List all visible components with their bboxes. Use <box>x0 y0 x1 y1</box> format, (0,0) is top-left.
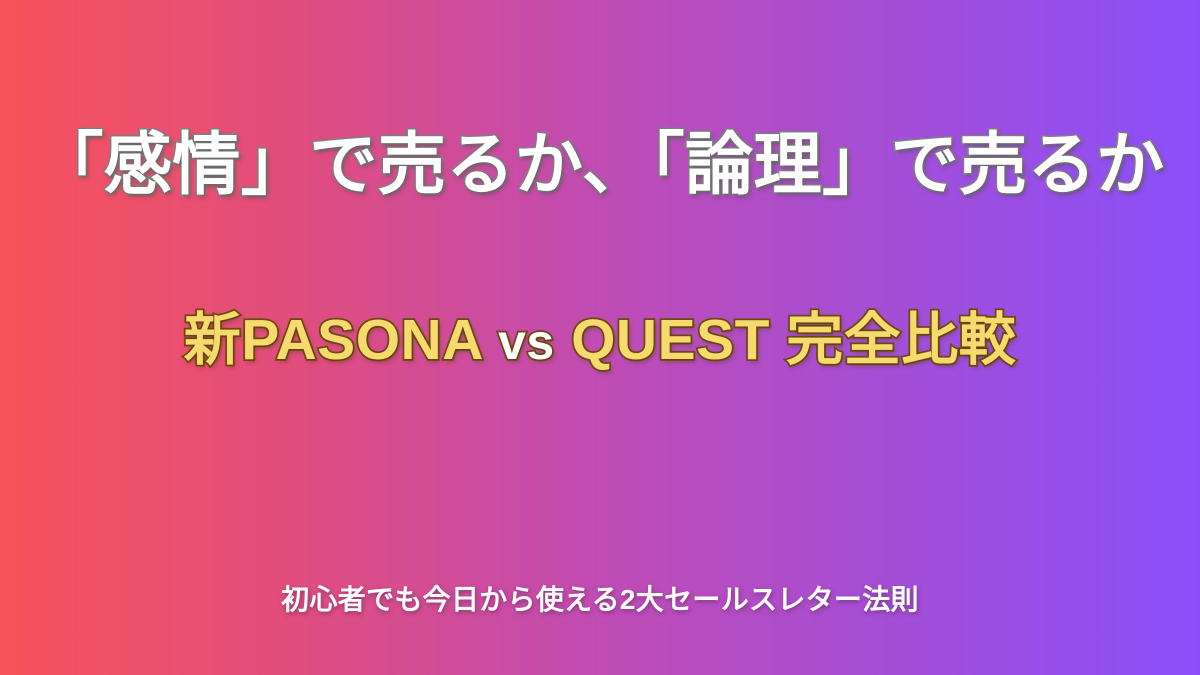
caption-block: 初心者でも今日から使える2大セールスレター法則 <box>0 586 1200 614</box>
headline-block: 「感情」で売るか、「論理」で売るか <box>0 131 1200 199</box>
page-title: 「感情」で売るか、「論理」で売るか <box>35 131 1164 199</box>
subheadline-part-2: QUEST 完全比較 <box>571 308 1016 372</box>
subheadline-block: 新PASONA vs QUEST 完全比較 <box>0 312 1200 369</box>
subheadline: 新PASONA vs QUEST 完全比較 <box>184 312 1017 369</box>
subheadline-part-1: 新PASONA <box>184 308 482 372</box>
subtitle-caption: 初心者でも今日から使える2大セールスレター法則 <box>281 586 919 614</box>
subheadline-separator: vs <box>498 314 555 370</box>
title-slide: 「感情」で売るか、「論理」で売るか 新PASONA vs QUEST 完全比較 … <box>0 0 1200 675</box>
